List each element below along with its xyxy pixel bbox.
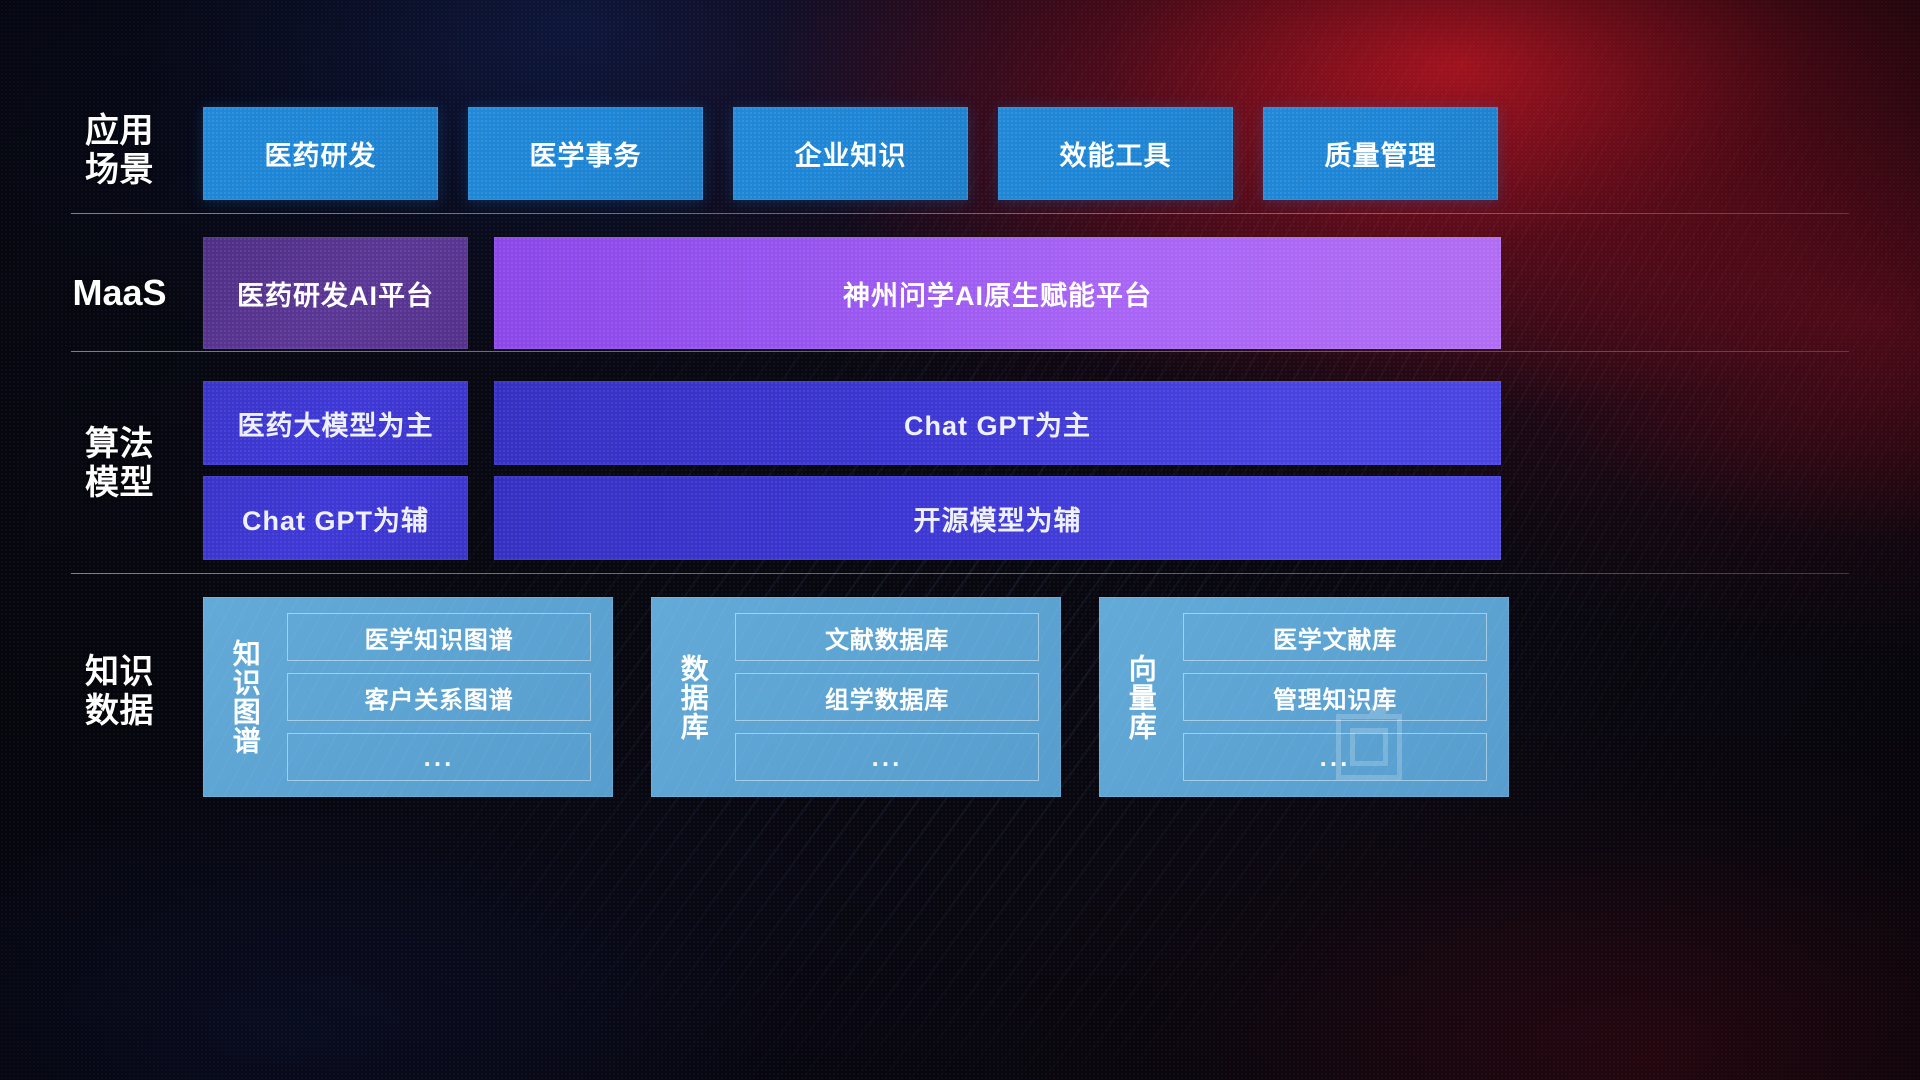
maas-box-shenzhou-wenxue-platform[interactable]: 神州问学AI原生赋能平台 [494, 237, 1501, 349]
knowledge-group-items: 文献数据库 组学数据库 ... [735, 597, 1061, 797]
row-label-line: 应用 [52, 112, 187, 151]
divider-1 [71, 213, 1849, 214]
scenario-box-label: 效能工具 [1060, 134, 1172, 173]
knowledge-group-title: 知识图谱 [203, 597, 287, 797]
scenario-box-label: 企业知识 [795, 134, 907, 173]
knowledge-groups: 知识图谱 医学知识图谱 客户关系图谱 ... 数据库 文献数据库 组学数据库 .… [203, 597, 1509, 797]
algo-box-opensource-secondary[interactable]: 开源模型为辅 [494, 476, 1501, 560]
knowledge-item[interactable]: 医学知识图谱 [287, 613, 591, 661]
algo-box-label: Chat GPT为主 [904, 404, 1091, 443]
knowledge-item-more[interactable]: ... [735, 733, 1039, 781]
row-label-line: 知识 [52, 653, 187, 692]
divider-2 [71, 351, 1849, 352]
scenario-box-drug-rd[interactable]: 医药研发 [203, 107, 438, 200]
row-label-line: 算法 [52, 425, 187, 464]
knowledge-group-vector-store[interactable]: 向量库 医学文献库 管理知识库 ... [1099, 597, 1509, 797]
knowledge-group-title: 向量库 [1099, 597, 1183, 797]
maas-box-drug-rd-ai-platform[interactable]: 医药研发AI平台 [203, 237, 468, 349]
knowledge-item-more[interactable]: ... [287, 733, 591, 781]
algo-box-chatgpt-secondary[interactable]: Chat GPT为辅 [203, 476, 468, 560]
scenario-box-medical-affairs[interactable]: 医学事务 [468, 107, 703, 200]
row-label-line: 数据 [52, 692, 187, 731]
knowledge-group-items: 医学文献库 管理知识库 ... [1183, 597, 1509, 797]
scenario-box-label: 医学事务 [530, 134, 642, 173]
maas-box-label: 神州问学AI原生赋能平台 [843, 274, 1152, 313]
knowledge-item[interactable]: 文献数据库 [735, 613, 1039, 661]
knowledge-group-items: 医学知识图谱 客户关系图谱 ... [287, 597, 613, 797]
scenario-box-efficiency-tools[interactable]: 效能工具 [998, 107, 1233, 200]
knowledge-item-more[interactable]: ... [1183, 733, 1487, 781]
algo-box-pharma-llm-primary[interactable]: 医药大模型为主 [203, 381, 468, 465]
row-label-line: 场景 [52, 151, 187, 190]
algo-box-label: 开源模型为辅 [914, 499, 1082, 538]
algorithm-boxes-upper: 医药大模型为主 Chat GPT为主 [203, 381, 1501, 465]
architecture-diagram: 应用 场景 医药研发 医学事务 企业知识 效能工具 质量管理 MaaS 医药研发… [0, 0, 1920, 1080]
scenario-box-label: 医药研发 [265, 134, 377, 173]
algo-box-chatgpt-primary[interactable]: Chat GPT为主 [494, 381, 1501, 465]
algorithm-boxes-lower: Chat GPT为辅 开源模型为辅 [203, 476, 1501, 560]
knowledge-item[interactable]: 客户关系图谱 [287, 673, 591, 721]
maas-boxes: 医药研发AI平台 神州问学AI原生赋能平台 [203, 237, 1501, 349]
scenario-box-enterprise-knowledge[interactable]: 企业知识 [733, 107, 968, 200]
application-scenario-boxes: 医药研发 医学事务 企业知识 效能工具 质量管理 [203, 107, 1498, 200]
row-label-application-scenarios: 应用 场景 [52, 112, 187, 191]
knowledge-item[interactable]: 管理知识库 [1183, 673, 1487, 721]
knowledge-item[interactable]: 医学文献库 [1183, 613, 1487, 661]
scenario-box-label: 质量管理 [1325, 134, 1437, 173]
divider-3 [71, 573, 1849, 574]
algo-box-label: Chat GPT为辅 [242, 499, 429, 538]
knowledge-group-database[interactable]: 数据库 文献数据库 组学数据库 ... [651, 597, 1061, 797]
scenario-box-quality-management[interactable]: 质量管理 [1263, 107, 1498, 200]
knowledge-group-title: 数据库 [651, 597, 735, 797]
algo-box-label: 医药大模型为主 [238, 404, 434, 443]
maas-box-label: 医药研发AI平台 [237, 274, 434, 313]
knowledge-item[interactable]: 组学数据库 [735, 673, 1039, 721]
knowledge-group-knowledge-graph[interactable]: 知识图谱 医学知识图谱 客户关系图谱 ... [203, 597, 613, 797]
row-label-maas: MaaS [52, 272, 187, 314]
row-label-knowledge-data: 知识 数据 [52, 653, 187, 732]
row-label-line: MaaS [52, 272, 187, 314]
row-label-algorithm-model: 算法 模型 [52, 425, 187, 504]
row-label-line: 模型 [52, 464, 187, 503]
